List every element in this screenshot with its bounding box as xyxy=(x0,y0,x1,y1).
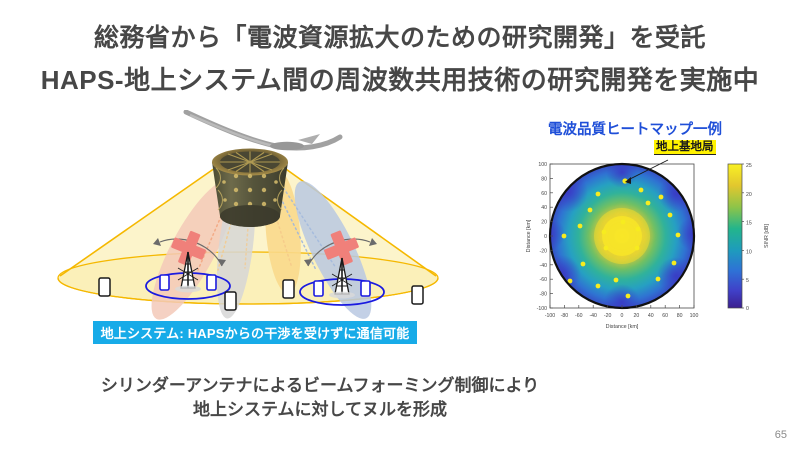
svg-text:20: 20 xyxy=(634,313,640,319)
y-axis-title: Distance [km] xyxy=(526,219,532,252)
svg-text:20: 20 xyxy=(541,220,547,226)
svg-text:60: 60 xyxy=(662,313,668,319)
svg-text:25: 25 xyxy=(746,163,752,169)
page-number: 65 xyxy=(775,429,787,441)
colorbar: 2520 1510 50 SINR [dB] xyxy=(728,163,770,312)
svg-text:-20: -20 xyxy=(540,248,548,254)
user-terminal-2 xyxy=(225,292,236,310)
caption-line-1: シリンダーアンテナによるビームフォーミング制御により xyxy=(70,371,570,396)
heatmap-figure: 10080 6040 200 -20-40 -60-80 -100 Distan… xyxy=(518,156,788,346)
svg-text:100: 100 xyxy=(690,313,699,319)
x-axis-title: Distance [km] xyxy=(606,324,639,330)
svg-text:0: 0 xyxy=(621,313,624,319)
svg-text:-20: -20 xyxy=(604,313,612,319)
caption-line-2: 地上システムに対してヌルを形成 xyxy=(70,395,570,420)
colorbar-title: SINR [dB] xyxy=(764,224,770,248)
ground-system-banner: 地上システム: HAPSからの干渉を受けずに通信可能 xyxy=(93,321,417,344)
user-terminal-1 xyxy=(99,278,110,296)
svg-text:-60: -60 xyxy=(575,313,583,319)
svg-text:40: 40 xyxy=(648,313,654,319)
user-terminal-3 xyxy=(283,280,294,298)
slide-title-line-1: 総務省から「電波資源拡大のための研究開発」を受託 xyxy=(0,18,800,54)
svg-text:100: 100 xyxy=(538,162,547,168)
haps-cylinder-antenna xyxy=(212,149,288,228)
svg-text:10: 10 xyxy=(746,249,752,255)
svg-text:-100: -100 xyxy=(545,313,555,319)
svg-text:0: 0 xyxy=(544,234,547,240)
svg-text:40: 40 xyxy=(541,205,547,211)
svg-text:5: 5 xyxy=(746,278,749,284)
svg-text:-60: -60 xyxy=(540,277,548,283)
x-axis: -100-80 -60-40 -200 2040 6080 100 xyxy=(545,313,699,319)
svg-text:20: 20 xyxy=(746,192,752,198)
svg-text:-40: -40 xyxy=(540,263,548,269)
haps-system-illustration xyxy=(40,110,490,340)
slide-canvas: 総務省から「電波資源拡大のための研究開発」を受託 HAPS-地上システム間の周波… xyxy=(0,0,800,450)
svg-text:-80: -80 xyxy=(540,292,548,298)
svg-text:-80: -80 xyxy=(561,313,569,319)
slide-title-line-2: HAPS-地上システム間の周波数共用技術の研究開発を実施中 xyxy=(0,60,800,97)
heatmap-panel: 電波品質ヒートマップ一例 地上基地局 xyxy=(500,118,800,353)
y-axis: 10080 6040 200 -20-40 -60-80 -100 xyxy=(537,162,548,312)
heatmap-title: 電波品質ヒートマップ一例 xyxy=(500,118,770,139)
svg-text:60: 60 xyxy=(541,191,547,197)
svg-text:80: 80 xyxy=(541,176,547,182)
svg-text:-40: -40 xyxy=(589,313,597,319)
svg-text:0: 0 xyxy=(746,306,749,312)
svg-text:15: 15 xyxy=(746,221,752,227)
svg-text:-100: -100 xyxy=(537,306,547,312)
base-station-callout: 地上基地局 xyxy=(654,140,716,155)
haps-aircraft xyxy=(186,112,340,150)
svg-text:80: 80 xyxy=(677,313,683,319)
user-terminal-4 xyxy=(412,286,423,304)
